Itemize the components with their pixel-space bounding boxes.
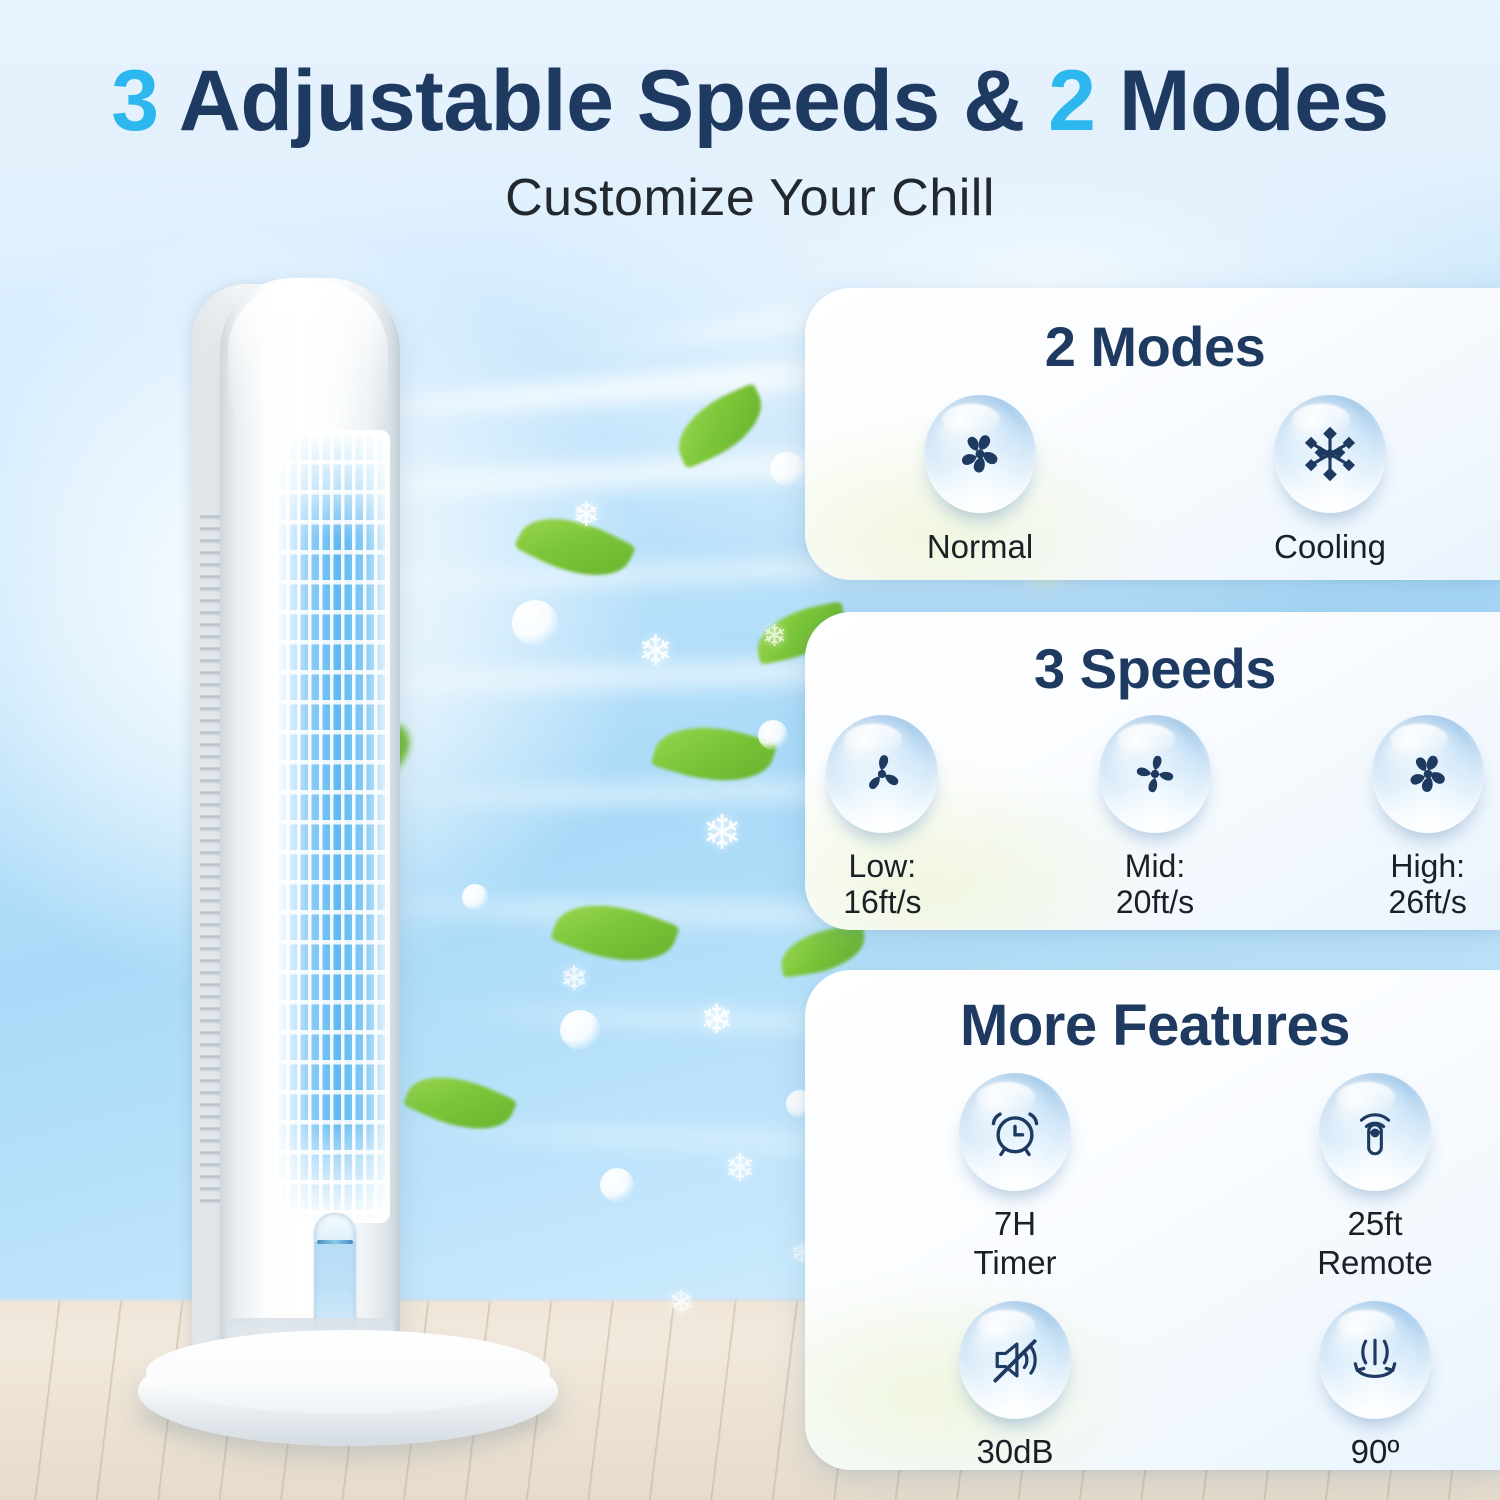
speed-item-mid: Mid: 20ft/s bbox=[1078, 715, 1233, 921]
card-features-title: More Features bbox=[805, 970, 1500, 1059]
fan-top-highlight bbox=[228, 282, 388, 432]
remote-control-icon bbox=[1319, 1073, 1431, 1191]
feature-label-timer: 7H Timer bbox=[973, 1205, 1056, 1283]
page-title: 3 Adjustable Speeds & 2 Modes bbox=[0, 52, 1500, 151]
mute-speaker-icon bbox=[959, 1301, 1071, 1419]
card-modes: 2 Modes Normal bbox=[805, 288, 1500, 580]
speeds-item-list: Low: 16ft/s Mid: 20ft/s bbox=[805, 715, 1500, 921]
feature-item-remote: 25ft Remote bbox=[1255, 1073, 1495, 1283]
speed-item-high: High: 26ft/s bbox=[1350, 715, 1500, 921]
fan-4-blade-icon bbox=[1099, 715, 1211, 833]
fan-base-top bbox=[146, 1330, 550, 1414]
feature-item-timer: 7H Timer bbox=[895, 1073, 1135, 1283]
fan-rear-vents bbox=[200, 508, 220, 1208]
grille-bottom-fade bbox=[275, 1118, 390, 1223]
page-subtitle: Customize Your Chill bbox=[0, 168, 1500, 228]
snowflake-icon: ❄ bbox=[702, 810, 742, 858]
tank-water-line bbox=[317, 1240, 353, 1244]
mode-item-normal: Normal bbox=[895, 395, 1065, 566]
speed-label-low: Low: 16ft/s bbox=[843, 849, 921, 921]
snowflake-icon: ❄ bbox=[560, 962, 589, 996]
card-speeds-title: 3 Speeds bbox=[805, 612, 1500, 701]
product-image-tower-fan bbox=[120, 278, 540, 1468]
card-speeds: 3 Speeds Low: 16ft/s bbox=[805, 612, 1500, 930]
feature-label-remote: 25ft Remote bbox=[1317, 1205, 1433, 1283]
water-droplet bbox=[770, 452, 804, 486]
snowflake-icon bbox=[1274, 395, 1386, 513]
feature-item-low-noise: 30dB Low Noise bbox=[895, 1301, 1135, 1470]
speed-label-mid: Mid: 20ft/s bbox=[1116, 849, 1194, 921]
headline-accent-3: 3 bbox=[111, 53, 158, 149]
snowflake-icon: ❄ bbox=[762, 622, 787, 652]
mode-label-cooling: Cooling bbox=[1274, 529, 1386, 566]
fan-5-blade-icon bbox=[924, 395, 1036, 513]
snowflake-icon: ❄ bbox=[572, 498, 601, 532]
feature-label-oscillation: 90º Oscilation bbox=[1303, 1433, 1448, 1470]
modes-item-list: Normal bbox=[805, 395, 1500, 566]
headline-text-1: Adjustable Speeds & bbox=[179, 53, 1025, 149]
fan-5-blade-icon bbox=[1372, 715, 1484, 833]
water-droplet bbox=[758, 720, 788, 750]
alarm-clock-icon bbox=[959, 1073, 1071, 1191]
headline-accent-2: 2 bbox=[1048, 53, 1095, 149]
infographic-canvas: ❄ ❄ ❄ ❄ ❄ ❄ ❄ ❄ ❄ ❄ 3 Adjustable Speeds … bbox=[0, 0, 1500, 1500]
headline-text-2: Modes bbox=[1119, 53, 1389, 149]
mode-item-cooling: Cooling bbox=[1245, 395, 1415, 566]
water-droplet bbox=[600, 1168, 634, 1202]
water-droplet bbox=[560, 1010, 600, 1050]
snowflake-icon: ❄ bbox=[700, 1000, 734, 1040]
grille-top-fade bbox=[275, 430, 390, 540]
snowflake-icon: ❄ bbox=[668, 1286, 695, 1318]
card-modes-title: 2 Modes bbox=[805, 288, 1500, 379]
snowflake-icon: ❄ bbox=[638, 630, 673, 672]
feature-item-oscillation: 90º Oscilation bbox=[1255, 1301, 1495, 1470]
oscillation-icon bbox=[1319, 1301, 1431, 1419]
speed-label-high: High: 26ft/s bbox=[1389, 849, 1467, 921]
card-more-features: More Features 7H Timer bbox=[805, 970, 1500, 1470]
snowflake-icon: ❄ bbox=[724, 1150, 756, 1188]
speed-item-low: Low: 16ft/s bbox=[805, 715, 960, 921]
feature-label-low-noise: 30dB Low Noise bbox=[938, 1433, 1092, 1470]
features-item-grid: 7H Timer 25ft Remote bbox=[805, 1059, 1500, 1470]
fan-air-grille bbox=[275, 430, 390, 1220]
mode-label-normal: Normal bbox=[927, 529, 1033, 566]
fan-3-blade-icon bbox=[826, 715, 938, 833]
